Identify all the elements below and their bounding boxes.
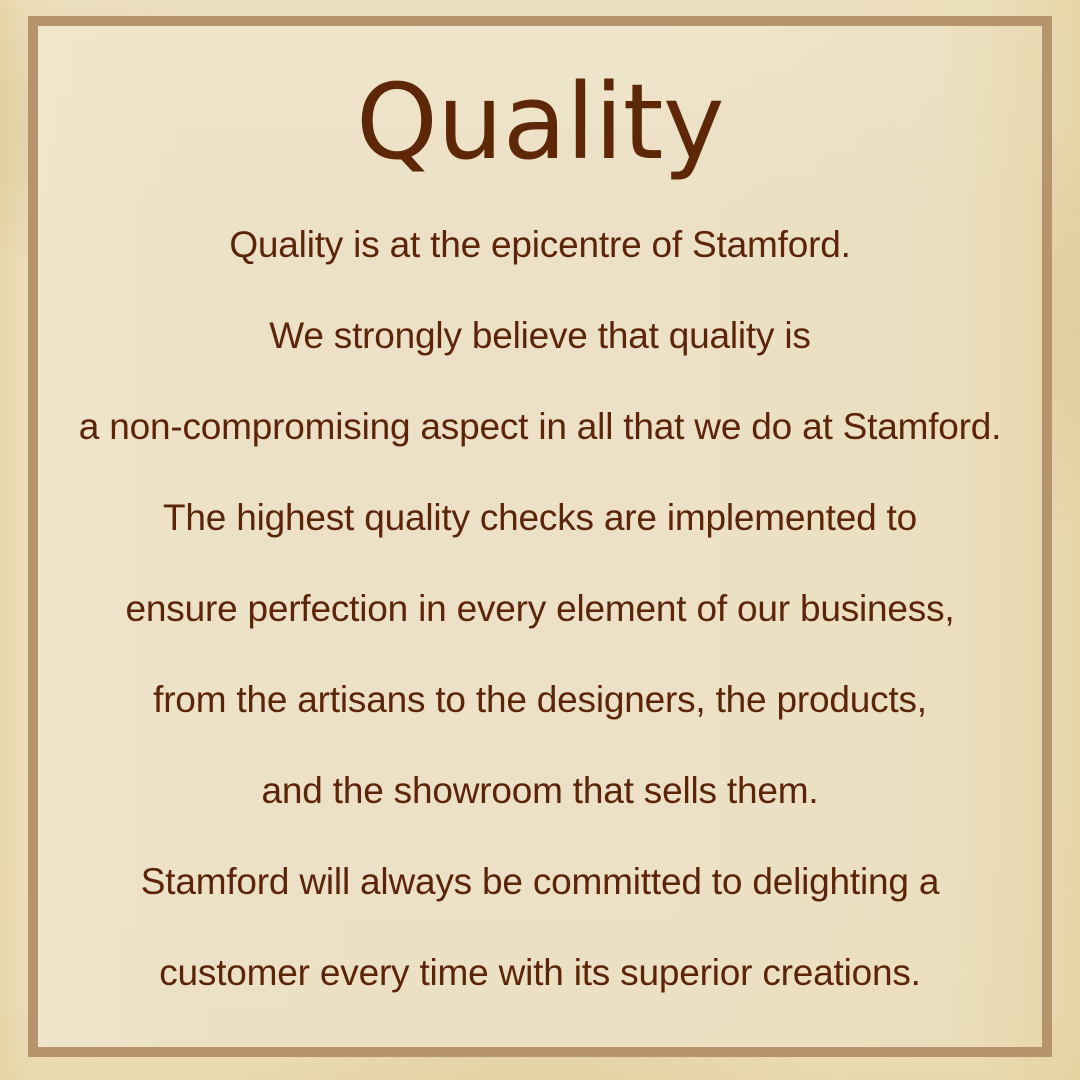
body-line: Stamford will always be committed to del… bbox=[38, 836, 1042, 927]
poster-content: Quality Quality is at the epicentre of S… bbox=[38, 26, 1042, 1047]
page-title: Quality bbox=[38, 70, 1042, 174]
decorative-frame-border: Quality Quality is at the epicentre of S… bbox=[28, 16, 1052, 1057]
body-line: a non-compromising aspect in all that we… bbox=[38, 381, 1042, 472]
body-line: Quality is at the epicentre of Stamford. bbox=[38, 199, 1042, 290]
body-line: The highest quality checks are implement… bbox=[38, 472, 1042, 563]
body-line: from the artisans to the designers, the … bbox=[38, 654, 1042, 745]
body-line: customer every time with its superior cr… bbox=[38, 927, 1042, 1018]
body-line: and the showroom that sells them. bbox=[38, 745, 1042, 836]
body-line: ensure perfection in every element of ou… bbox=[38, 563, 1042, 654]
body-line: We strongly believe that quality is bbox=[38, 290, 1042, 381]
body-text-block: Quality is at the epicentre of Stamford.… bbox=[38, 199, 1042, 1018]
poster-canvas: Quality Quality is at the epicentre of S… bbox=[0, 0, 1080, 1080]
